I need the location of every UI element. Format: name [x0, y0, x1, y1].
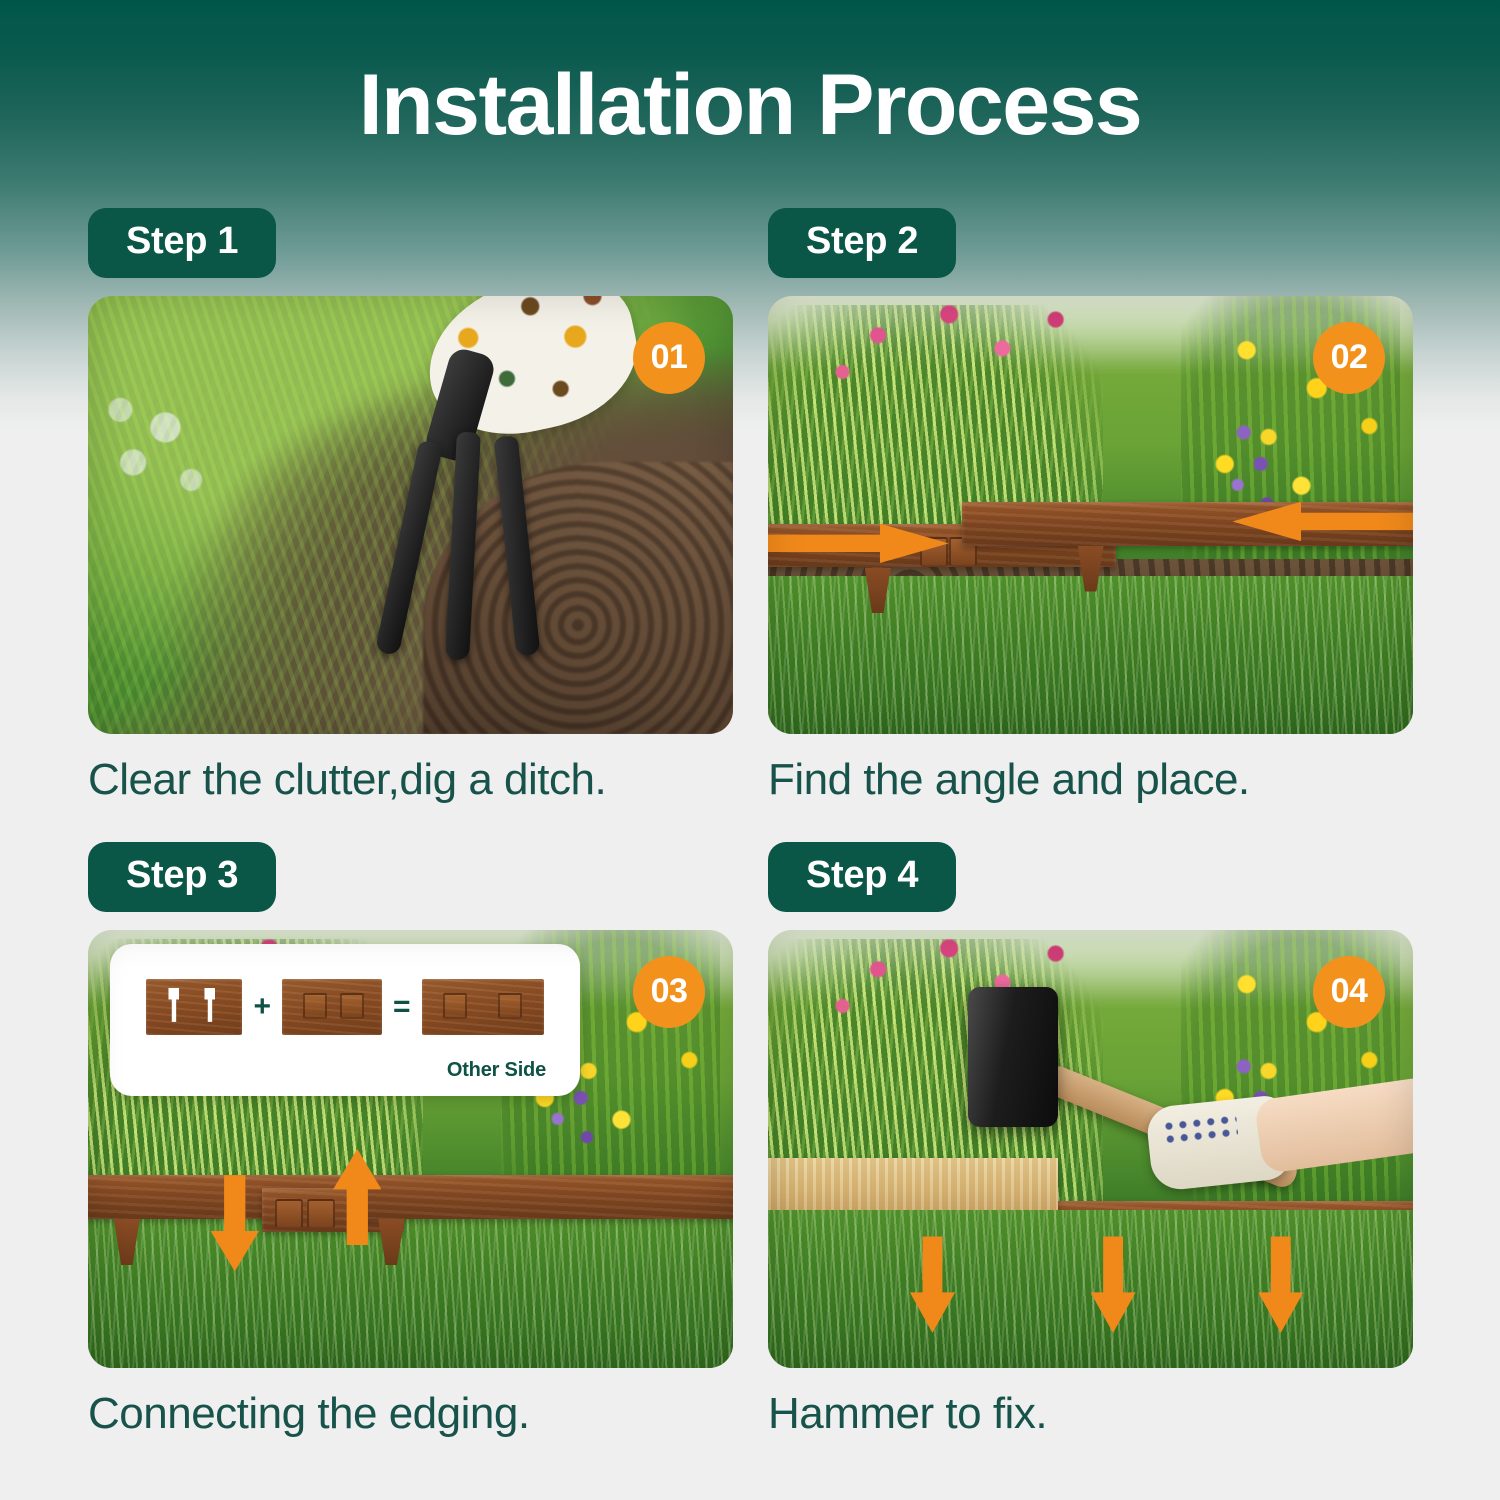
installation-process-infographic: Installation Process Step 1 01 Clear the…: [0, 0, 1500, 1500]
step-number-badge-3: 03: [633, 956, 705, 1028]
step-badge-2: Step 2: [768, 208, 956, 278]
lawn-grass: [768, 576, 1413, 734]
step-caption-1: Clear the clutter,dig a ditch.: [88, 756, 733, 804]
step-caption-4: Hammer to fix.: [768, 1390, 1413, 1438]
step-card-2: Step 2 02 Find the an: [768, 208, 1413, 804]
tab-shape: [303, 993, 327, 1019]
step-number-badge-1: 01: [633, 322, 705, 394]
hand-cultivator-icon: [393, 384, 583, 684]
slot-shape: [204, 988, 215, 1022]
steps-grid: Step 1 01 Clear the clutter,dig a ditch.…: [0, 0, 1500, 1500]
edging-tab: [307, 1199, 335, 1229]
step-card-4: Step 4 04: [768, 842, 1413, 1438]
cultivator-tine: [494, 435, 541, 656]
other-side-label: Other Side: [447, 1059, 546, 1082]
slot-shape: [168, 988, 179, 1022]
tab-shape: [443, 993, 467, 1019]
rubber-mallet-head: [968, 987, 1058, 1127]
step-photo-4: 04: [768, 930, 1413, 1368]
connection-diagram-row: + =: [110, 970, 580, 1044]
step-card-3: Step 3: [88, 842, 733, 1438]
tab-shape: [340, 993, 364, 1019]
edging-tab: [275, 1199, 303, 1229]
step-caption-2: Find the angle and place.: [768, 756, 1413, 804]
lawn-grass: [88, 1210, 733, 1368]
pink-flowers: [807, 930, 1104, 1061]
lawn-grass: [768, 1210, 1413, 1368]
tab-shape: [498, 993, 522, 1019]
step-number-badge-2: 02: [1313, 322, 1385, 394]
connection-diagram-card: + = Other Side: [110, 944, 580, 1096]
step-caption-3: Connecting the edging.: [88, 1390, 733, 1438]
step-card-1: Step 1 01 Clear the clutter,dig a ditch.: [88, 208, 733, 804]
plate-with-slots: [146, 979, 242, 1035]
step-badge-1: Step 1: [88, 208, 276, 278]
step-number-badge-4: 04: [1313, 956, 1385, 1028]
edging-panel-right: [352, 1175, 733, 1219]
step-badge-4: Step 4: [768, 842, 956, 912]
step-photo-3: + = Other Side 03: [88, 930, 733, 1368]
step-photo-1: 01: [88, 296, 733, 734]
cultivator-tine: [445, 431, 481, 660]
equals-symbol: =: [393, 992, 411, 1022]
plus-symbol: +: [253, 992, 271, 1022]
plate-joined-result: [422, 979, 544, 1035]
step-photo-2: 02: [768, 296, 1413, 734]
plate-with-tabs: [282, 979, 382, 1035]
step-badge-3: Step 3: [88, 842, 276, 912]
pink-flowers: [807, 296, 1104, 427]
